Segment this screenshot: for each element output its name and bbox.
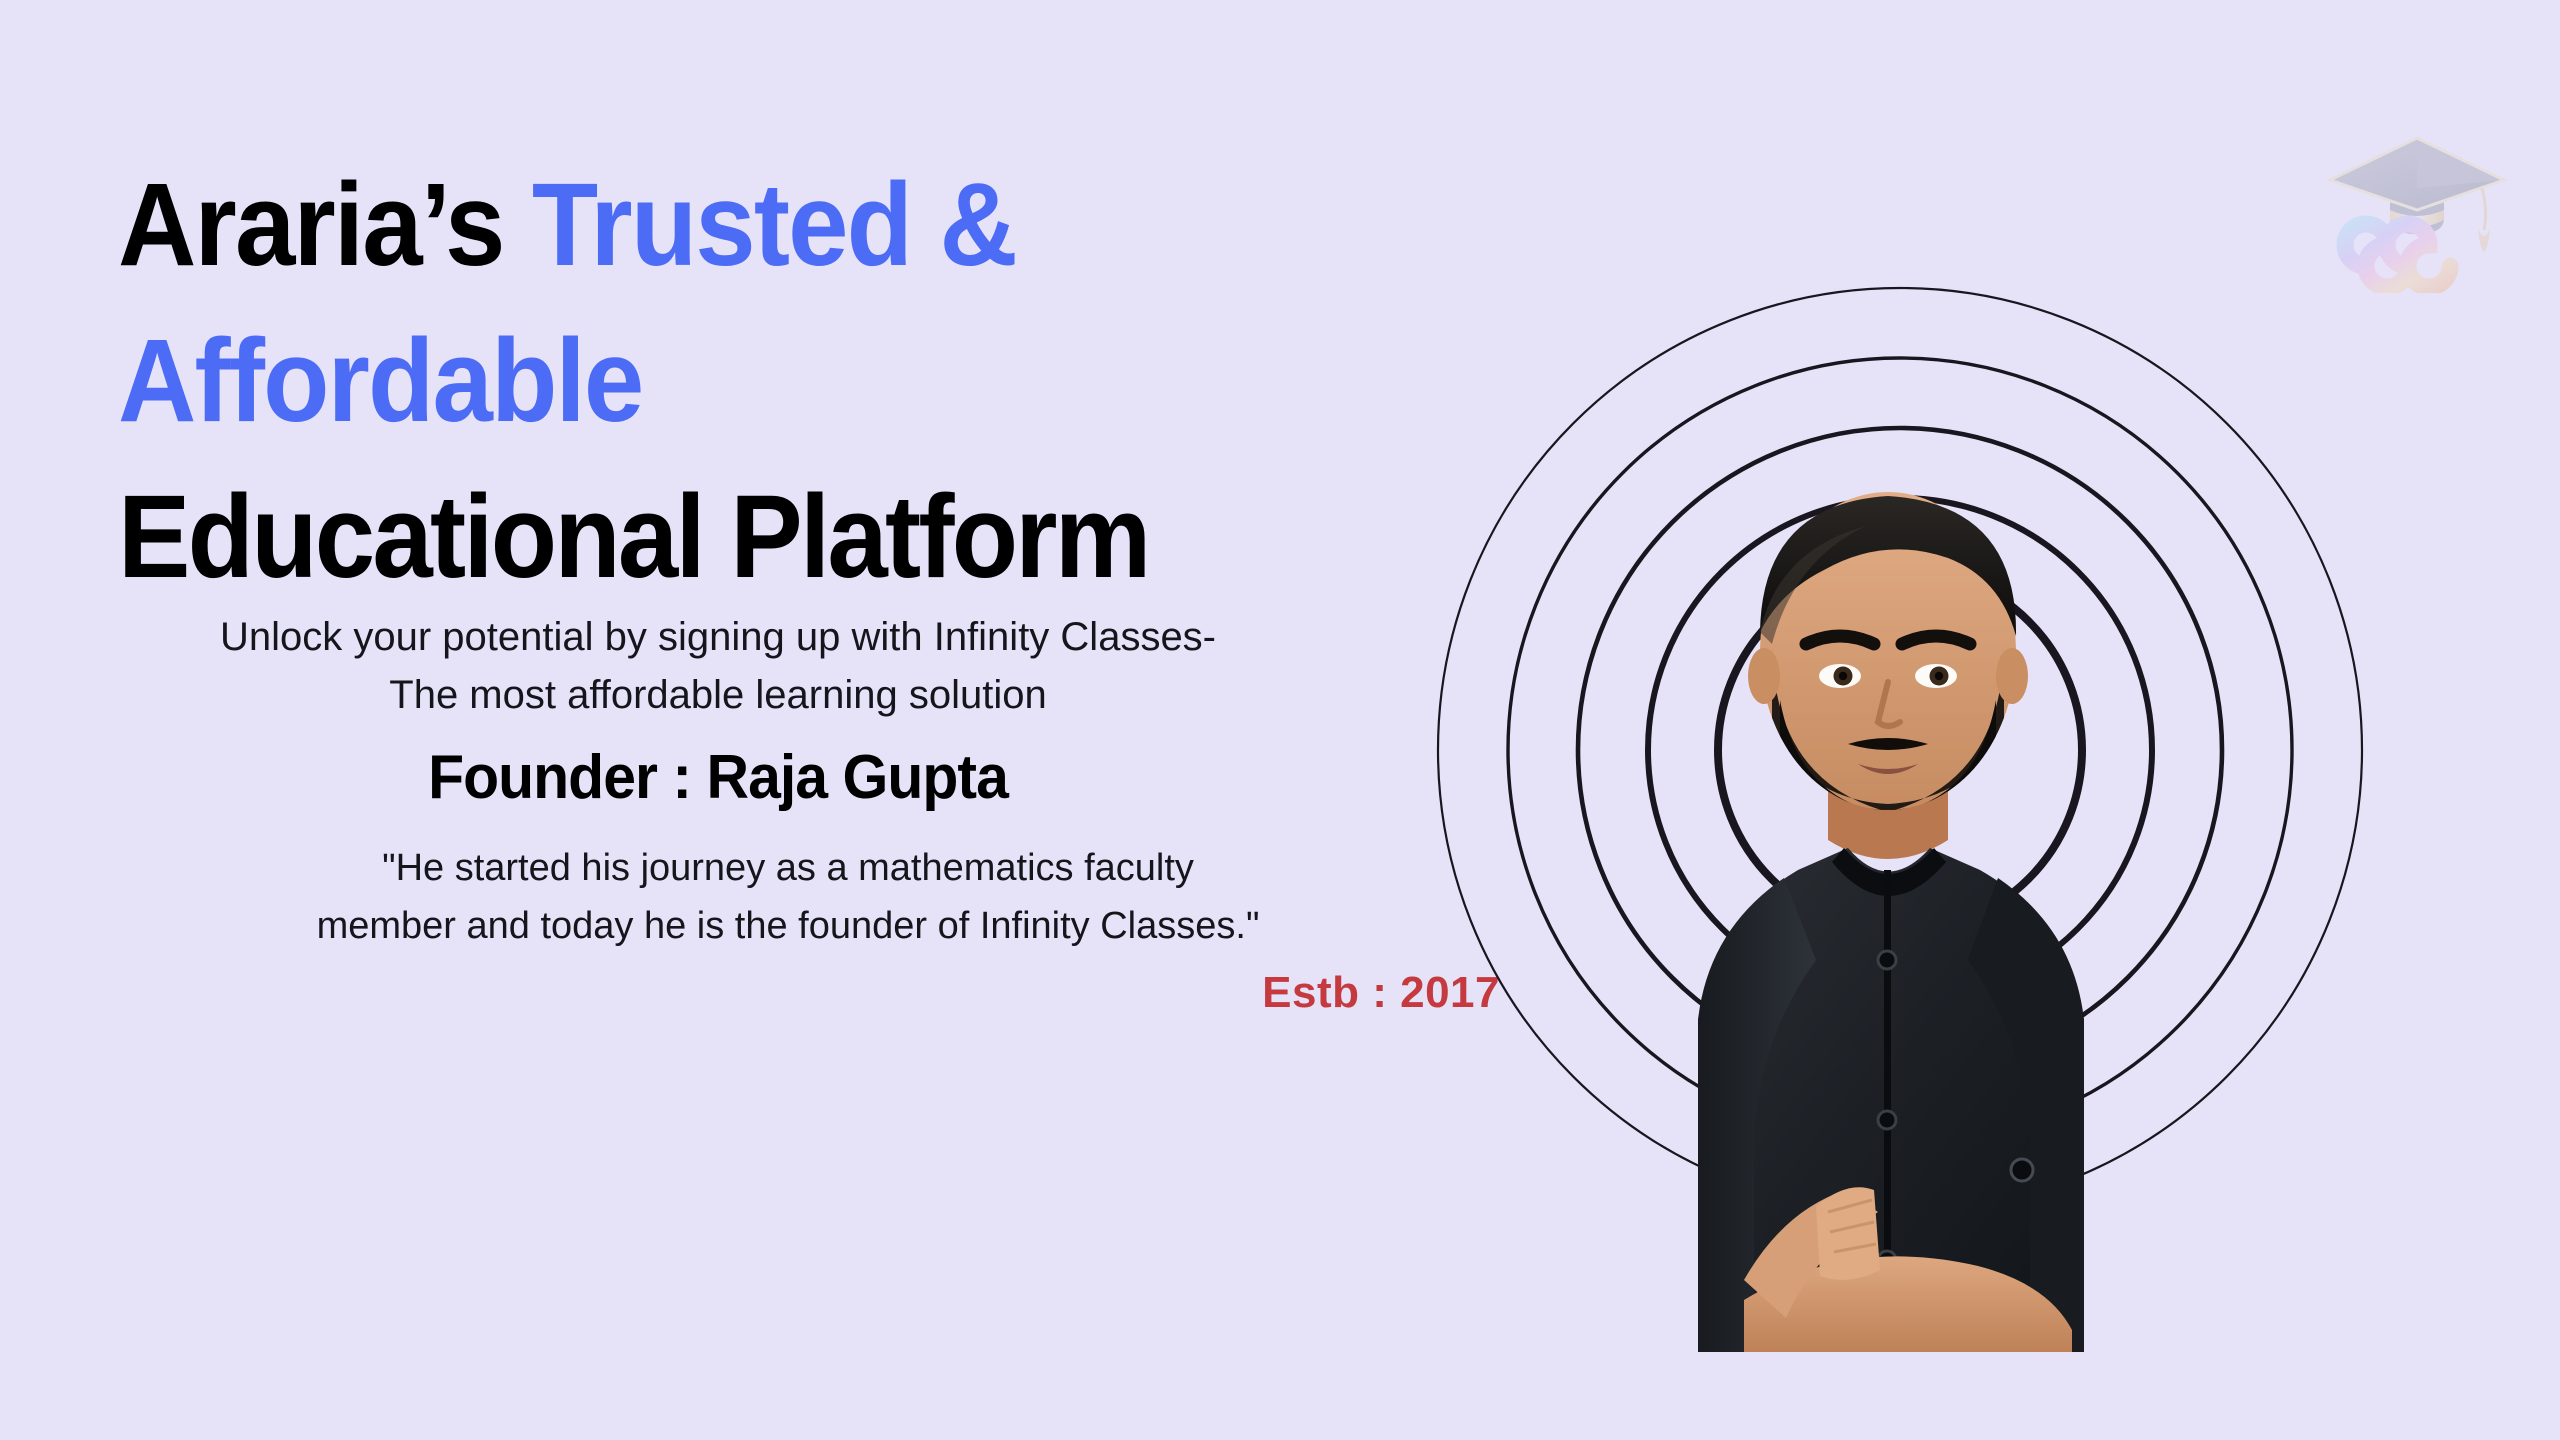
brand-logo — [2322, 118, 2512, 293]
graduation-cap-infinity-logo-icon — [2322, 118, 2512, 293]
founder-portrait-image — [1548, 400, 2210, 1352]
founder-heading: Founder : Raja Gupta — [148, 742, 1288, 813]
founder-quote-line-2: member and today he is the founder of In… — [188, 898, 1388, 956]
hero-banner: Araria’s Trusted & Affordable Educationa… — [0, 0, 2560, 1440]
headline-line-3: Educational Platform — [118, 460, 1332, 616]
headline-line-1-accent: Trusted & — [532, 159, 1016, 291]
established-badge: Estb : 2017 — [700, 968, 1500, 1018]
hero-subtitle: Unlock your potential by signing up with… — [118, 608, 1318, 725]
founder-quote-line-1: "He started his journey as a mathematics… — [188, 840, 1388, 898]
headline-line-1: Araria’s Trusted & — [118, 148, 1332, 304]
hero-visual-column — [1430, 230, 2430, 1240]
hero-subtitle-line-1: Unlock your potential by signing up with… — [118, 608, 1318, 666]
founder-portrait — [1548, 400, 2210, 1352]
founder-quote: "He started his journey as a mathematics… — [188, 840, 1388, 956]
headline-line-1-black: Araria’s — [118, 159, 532, 291]
hero-subtitle-line-2: The most affordable learning solution — [118, 666, 1318, 724]
page-title: Araria’s Trusted & Affordable Educationa… — [118, 148, 1332, 615]
headline-line-2-accent: Affordable — [118, 304, 1332, 460]
hero-copy-column: Araria’s Trusted & Affordable Educationa… — [0, 0, 1560, 1440]
